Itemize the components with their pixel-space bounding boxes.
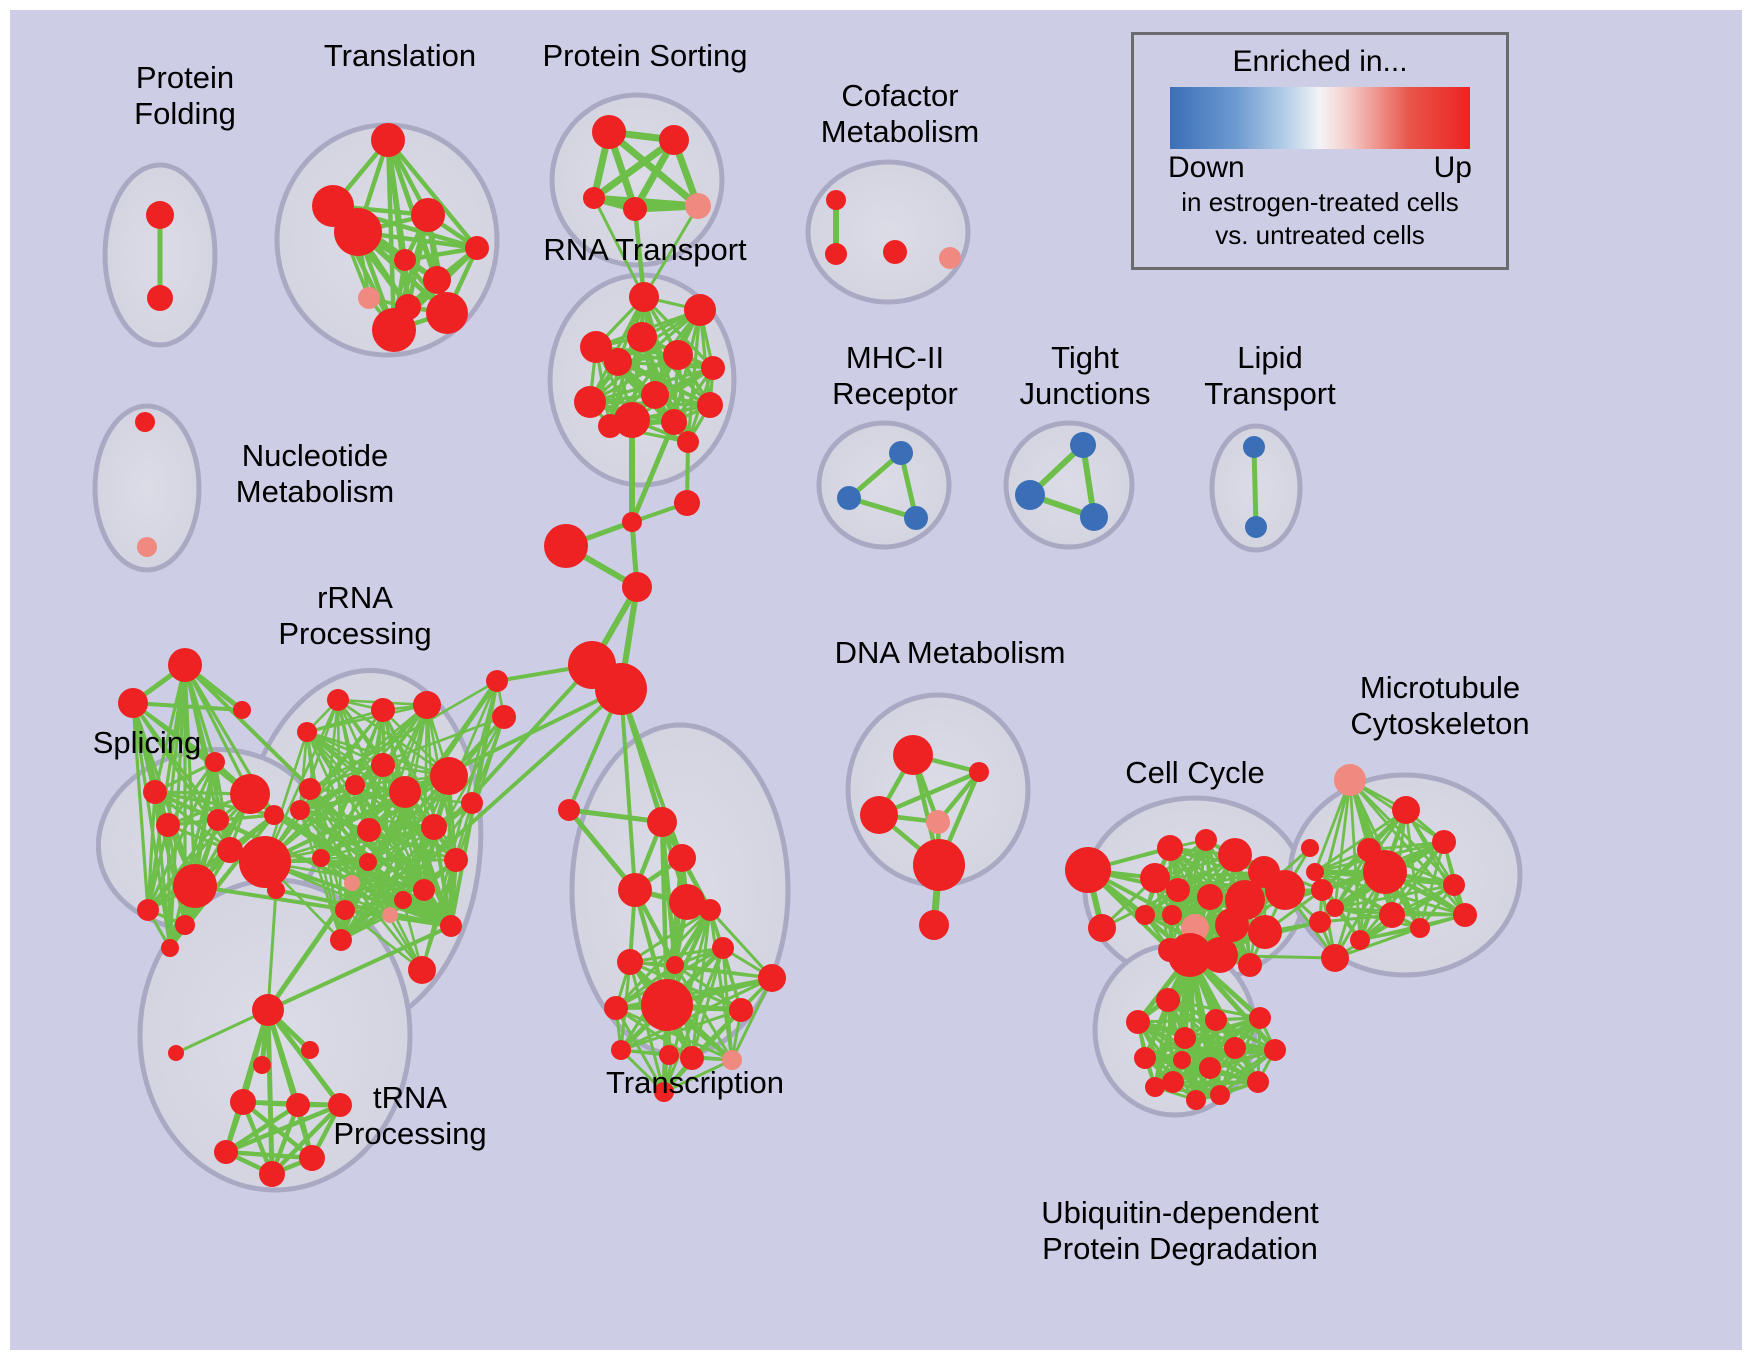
network-node[interactable]	[1186, 1090, 1206, 1110]
network-node[interactable]	[357, 818, 381, 842]
network-node[interactable]	[1195, 829, 1217, 851]
network-node[interactable]	[1218, 838, 1252, 872]
network-node[interactable]	[444, 848, 468, 872]
network-node[interactable]	[889, 441, 913, 465]
network-node[interactable]	[627, 322, 657, 352]
cluster-label-trna-processing: tRNA Processing	[310, 1080, 510, 1152]
network-node[interactable]	[413, 691, 441, 719]
network-node[interactable]	[837, 486, 861, 510]
cluster-label-lipid-transport: Lipid Transport	[1175, 340, 1365, 412]
network-node[interactable]	[647, 807, 677, 837]
network-node[interactable]	[371, 753, 395, 777]
network-node[interactable]	[259, 1161, 285, 1187]
network-node[interactable]	[1265, 870, 1305, 910]
network-node[interactable]	[372, 308, 416, 352]
network-node[interactable]	[330, 929, 352, 951]
network-node[interactable]	[629, 282, 659, 312]
network-node[interactable]	[1174, 1027, 1196, 1049]
network-node[interactable]	[233, 701, 251, 719]
network-node[interactable]	[267, 881, 285, 899]
network-node[interactable]	[699, 899, 721, 921]
cluster-hull-mhc-ii-receptor[interactable]	[819, 423, 949, 547]
network-node[interactable]	[297, 722, 317, 742]
network-node[interactable]	[1205, 1009, 1227, 1031]
network-node[interactable]	[344, 875, 360, 891]
network-node[interactable]	[1065, 847, 1111, 893]
network-node[interactable]	[677, 431, 699, 453]
network-node[interactable]	[1157, 835, 1183, 861]
network-node[interactable]	[168, 648, 202, 682]
network-node[interactable]	[299, 778, 321, 800]
network-node[interactable]	[1443, 874, 1465, 896]
network-node[interactable]	[1248, 915, 1282, 949]
network-node[interactable]	[893, 735, 933, 775]
legend-color-gradient	[1170, 87, 1470, 149]
network-node[interactable]	[408, 956, 436, 984]
network-node[interactable]	[661, 409, 687, 435]
network-node[interactable]	[440, 915, 462, 937]
network-node[interactable]	[913, 839, 965, 891]
network-node[interactable]	[558, 799, 580, 821]
network-node[interactable]	[118, 688, 148, 718]
network-node[interactable]	[1379, 902, 1405, 928]
network-node[interactable]	[1156, 988, 1180, 1012]
network-node[interactable]	[1162, 1071, 1184, 1093]
network-node[interactable]	[669, 884, 705, 920]
network-node[interactable]	[1245, 516, 1267, 538]
cluster-label-rna-transport: RNA Transport	[505, 232, 785, 268]
network-node[interactable]	[969, 762, 989, 782]
network-node[interactable]	[286, 1093, 310, 1117]
network-node[interactable]	[430, 757, 468, 795]
network-node[interactable]	[604, 996, 628, 1020]
network-node[interactable]	[611, 1040, 631, 1060]
legend-box: Enriched in... Down Up in estrogen-treat…	[1131, 32, 1509, 270]
cluster-label-cofactor-metabolism: Cofactor Metabolism	[785, 78, 1015, 150]
legend-caption-line2: vs. untreated cells	[1134, 220, 1506, 251]
network-node[interactable]	[684, 294, 716, 326]
network-node[interactable]	[595, 663, 647, 715]
network-node[interactable]	[1243, 436, 1265, 458]
network-node[interactable]	[253, 1056, 271, 1074]
network-node[interactable]	[394, 891, 412, 909]
network-node[interactable]	[1326, 899, 1344, 917]
network-node[interactable]	[659, 125, 689, 155]
legend-title: Enriched in...	[1134, 45, 1506, 79]
network-node[interactable]	[137, 537, 157, 557]
network-node[interactable]	[623, 197, 647, 221]
network-node[interactable]	[1321, 944, 1349, 972]
cluster-label-microtubule-cytoskeleton: Microtubule Cytoskeleton	[1305, 670, 1575, 742]
network-node[interactable]	[622, 512, 642, 532]
network-node[interactable]	[1350, 930, 1370, 950]
network-node[interactable]	[207, 809, 229, 831]
network-node[interactable]	[146, 201, 174, 229]
network-node[interactable]	[618, 873, 652, 907]
network-node[interactable]	[1199, 1057, 1221, 1079]
network-node[interactable]	[1309, 911, 1331, 933]
network-node[interactable]	[1264, 1039, 1286, 1061]
network-node[interactable]	[919, 910, 949, 940]
network-node[interactable]	[389, 776, 421, 808]
network-node[interactable]	[926, 810, 950, 834]
cluster-label-protein-folding: Protein Folding	[85, 60, 285, 132]
network-node[interactable]	[421, 814, 447, 840]
network-node[interactable]	[1249, 1007, 1271, 1029]
network-node[interactable]	[622, 572, 652, 602]
network-node[interactable]	[492, 705, 516, 729]
cluster-label-ubiquitin-protein-degradation: Ubiquitin-dependent Protein Degradation	[980, 1195, 1380, 1267]
cluster-label-protein-sorting: Protein Sorting	[510, 38, 780, 74]
network-node[interactable]	[239, 836, 291, 888]
cluster-label-transcription: Transcription	[575, 1065, 815, 1101]
network-node[interactable]	[1135, 905, 1155, 925]
network-node[interactable]	[1306, 863, 1324, 881]
network-node[interactable]	[1363, 850, 1407, 894]
network-node[interactable]	[574, 386, 606, 418]
network-node[interactable]	[264, 805, 284, 825]
network-node[interactable]	[465, 236, 489, 260]
cluster-label-rrna-processing: rRNA Processing	[250, 580, 460, 652]
network-node[interactable]	[334, 208, 382, 256]
network-node[interactable]	[758, 964, 786, 992]
network-node[interactable]	[592, 115, 626, 149]
network-node[interactable]	[461, 792, 483, 814]
figure-root: Protein FoldingTranslationProtein Sortin…	[0, 0, 1750, 1360]
network-node[interactable]	[382, 907, 398, 923]
network-node[interactable]	[411, 198, 445, 232]
network-node[interactable]	[335, 900, 355, 920]
network-node[interactable]	[394, 249, 416, 271]
cluster-label-splicing: Splicing	[62, 725, 232, 761]
network-node[interactable]	[659, 1045, 679, 1065]
cluster-hull-cofactor-metabolism[interactable]	[808, 162, 968, 302]
network-node[interactable]	[1070, 432, 1096, 458]
network-node[interactable]	[413, 879, 435, 901]
network-node[interactable]	[1247, 1071, 1269, 1093]
network-node[interactable]	[1166, 878, 1190, 902]
network-node[interactable]	[312, 849, 330, 867]
network-node[interactable]	[883, 240, 907, 264]
network-node[interactable]	[1238, 953, 1262, 977]
network-node[interactable]	[939, 247, 961, 269]
network-node[interactable]	[230, 774, 270, 814]
network-node[interactable]	[214, 1140, 238, 1164]
network-node[interactable]	[729, 998, 753, 1022]
network-node[interactable]	[668, 844, 696, 872]
network-node[interactable]	[175, 915, 195, 935]
legend-low-label: Down	[1168, 151, 1245, 185]
network-node[interactable]	[583, 187, 605, 209]
network-node[interactable]	[327, 689, 349, 711]
network-node[interactable]	[1134, 1047, 1156, 1069]
network-node[interactable]	[1334, 764, 1366, 796]
network-edge	[1254, 447, 1256, 527]
network-node[interactable]	[1145, 1077, 1165, 1097]
network-node[interactable]	[426, 292, 468, 334]
network-node[interactable]	[137, 899, 159, 921]
network-node[interactable]	[217, 837, 243, 863]
network-node[interactable]	[904, 506, 928, 530]
network-node[interactable]	[617, 949, 643, 975]
network-node[interactable]	[301, 1041, 319, 1059]
network-node[interactable]	[1311, 879, 1333, 901]
legend-caption-line1: in estrogen-treated cells	[1134, 187, 1506, 218]
network-node[interactable]	[544, 524, 588, 568]
network-node[interactable]	[604, 348, 632, 376]
network-node[interactable]	[371, 123, 405, 157]
network-node[interactable]	[1015, 480, 1045, 510]
network-node[interactable]	[1088, 914, 1116, 942]
network-node[interactable]	[1215, 908, 1249, 942]
network-node[interactable]	[1173, 1051, 1191, 1069]
network-node[interactable]	[486, 670, 508, 692]
network-node[interactable]	[1210, 1085, 1230, 1105]
network-node[interactable]	[1080, 503, 1108, 531]
network-node[interactable]	[598, 414, 622, 438]
network-node[interactable]	[712, 937, 734, 959]
network-node[interactable]	[697, 392, 723, 418]
network-node[interactable]	[290, 800, 310, 820]
cluster-label-translation: Translation	[280, 38, 520, 74]
network-node[interactable]	[641, 979, 693, 1031]
network-node[interactable]	[230, 1089, 256, 1115]
network-node[interactable]	[1410, 918, 1430, 938]
network-node[interactable]	[825, 243, 847, 265]
network-node[interactable]	[685, 193, 711, 219]
network-node[interactable]	[173, 864, 217, 908]
cluster-label-dna-metabolism: DNA Metabolism	[810, 635, 1090, 671]
cluster-label-mhc-ii-receptor: MHC-II Receptor	[800, 340, 990, 412]
network-node[interactable]	[156, 813, 180, 837]
network-node[interactable]	[358, 287, 380, 309]
network-node[interactable]	[1392, 796, 1420, 824]
legend-high-label: Up	[1434, 151, 1472, 185]
network-node[interactable]	[701, 356, 725, 380]
network-node[interactable]	[371, 698, 395, 722]
network-node[interactable]	[168, 1045, 184, 1061]
network-node[interactable]	[359, 853, 377, 871]
network-node[interactable]	[423, 266, 451, 294]
network-node[interactable]	[1197, 884, 1223, 910]
network-canvas: Protein FoldingTranslationProtein Sortin…	[10, 10, 1742, 1350]
network-node[interactable]	[147, 285, 173, 311]
cluster-label-nucleotide-metabolism: Nucleotide Metabolism	[195, 438, 435, 510]
network-node[interactable]	[1432, 830, 1456, 854]
network-node[interactable]	[135, 412, 155, 432]
cluster-label-tight-junctions: Tight Junctions	[995, 340, 1175, 412]
network-node[interactable]	[1126, 1010, 1150, 1034]
network-node[interactable]	[1140, 863, 1170, 893]
network-node[interactable]	[641, 381, 669, 409]
network-node[interactable]	[1202, 937, 1238, 973]
network-node[interactable]	[143, 780, 167, 804]
network-node[interactable]	[1301, 839, 1319, 857]
network-node[interactable]	[663, 340, 693, 370]
network-node[interactable]	[161, 939, 179, 957]
network-node[interactable]	[666, 956, 684, 974]
network-node[interactable]	[826, 190, 846, 210]
network-node[interactable]	[1453, 903, 1477, 927]
network-node[interactable]	[674, 490, 700, 516]
network-node[interactable]	[1162, 905, 1182, 925]
cluster-label-cell-cycle: Cell Cycle	[1095, 755, 1295, 791]
network-node[interactable]	[345, 775, 365, 795]
network-node[interactable]	[860, 796, 898, 834]
network-node[interactable]	[1224, 1037, 1246, 1059]
network-node[interactable]	[252, 994, 284, 1026]
